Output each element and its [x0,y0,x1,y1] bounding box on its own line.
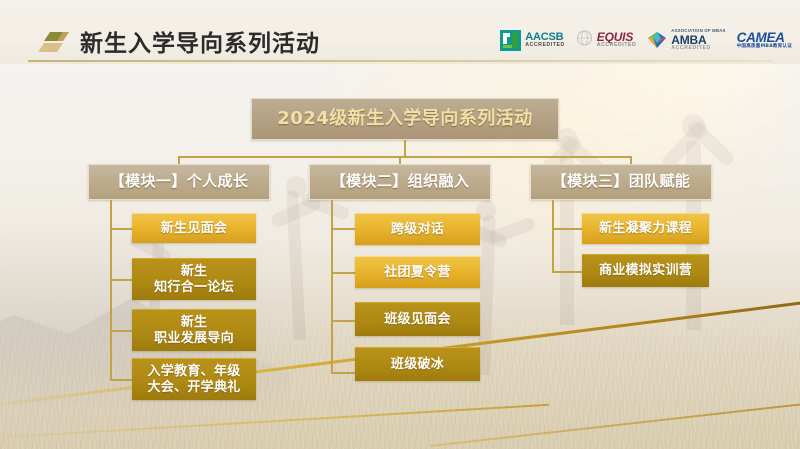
slide-canvas: 新生入学导向系列活动 AACSB ACCREDITED [0,0,800,449]
chart-leaf-label: 社团夏令营 [384,265,451,280]
chart-leaf-label-line1: 新生 [181,264,208,279]
camea-label: CAMEA [737,31,792,45]
amba-accreditation-logo: ASSOCIATION OF MBAS AMBA ACCREDITED [647,29,725,51]
camea-accreditation-logo: CAMEA 中国高质量MBA教育认证 [737,31,792,50]
connector-leaf-3-2 [552,271,582,273]
chart-leaf-node: 新生见面会 [132,213,256,243]
amba-icon [647,31,667,49]
chart-leaf-label: 新生凝聚力课程 [599,221,692,236]
amba-label: AMBA [671,34,725,46]
aacsb-icon [500,30,521,51]
equis-icon [576,30,593,50]
connector-spine-1 [110,200,112,380]
chart-leaf-node: 跨级对话 [355,213,480,245]
chart-branch-header-3: 【模块三】团队赋能 [530,164,712,200]
connector-spine-2 [331,200,333,373]
connector-leaf-1-2 [110,279,132,281]
chart-branch-header-1: 【模块一】个人成长 [88,164,270,200]
chart-root-node: 2024级新生入学导向系列活动 [251,98,559,140]
chart-leaf-label: 班级破冰 [391,357,444,372]
brand-logo-icon [38,30,74,54]
chart-branch-header-2: 【模块二】组织融入 [309,164,491,200]
connector-leaf-3-1 [552,228,582,230]
chart-leaf-node: 入学教育、年级 大会、开学典礼 [132,358,256,400]
chart-leaf-node: 班级见面会 [355,302,480,336]
connector-leaf-2-2 [331,272,355,274]
page-title: 新生入学导向系列活动 [80,24,320,58]
connector-leaf-1-4 [110,379,132,381]
connector-root-stem [404,140,406,157]
chart-leaf-label-line2: 大会、开学典礼 [147,380,240,395]
chart-leaf-label: 跨级对话 [391,222,444,237]
connector-leaf-1-3 [110,330,132,332]
chart-leaf-label: 新生见面会 [161,221,228,236]
chart-leaf-node: 社团夏令营 [355,256,480,288]
chart-leaf-node: 班级破冰 [355,347,480,381]
chart-leaf-label-line1: 新生 [181,315,208,330]
amba-sublabel: ACCREDITED [671,46,725,51]
chart-leaf-label: 班级见面会 [384,312,451,327]
equis-accreditation-logo: EQUIS ACCREDITED [576,30,637,50]
chart-leaf-node: 新生凝聚力课程 [582,213,709,244]
chart-leaf-label-line1: 入学教育、年级 [147,364,240,379]
equis-sublabel: ACCREDITED [597,43,637,48]
accreditation-logo-row: AACSB ACCREDITED EQUIS ACCREDITED [500,24,792,56]
chart-leaf-node: 新生 知行合一论坛 [132,258,256,300]
connector-leaf-2-1 [331,228,355,230]
chart-leaf-node: 商业模拟实训营 [582,254,709,287]
connector-spine-3 [552,200,554,272]
chart-leaf-node: 新生 职业发展导向 [132,309,256,351]
connector-leaf-2-3 [331,320,355,322]
chart-leaf-label-line2: 知行合一论坛 [154,280,234,295]
org-chart: 2024级新生入学导向系列活动 【模块一】个人成长 新生见面会 新生 知行合一论… [0,0,800,449]
chart-leaf-label-line2: 职业发展导向 [154,331,234,346]
connector-leaf-1-1 [110,228,132,230]
aacsb-accreditation-logo: AACSB ACCREDITED [500,30,565,51]
header-divider-rule [28,60,772,62]
connector-leaf-2-4 [331,372,355,374]
chart-leaf-label: 商业模拟实训营 [599,263,692,278]
aacsb-sublabel: ACCREDITED [525,43,565,48]
camea-sublabel: 中国高质量MBA教育认证 [737,45,792,50]
connector-root-bus [178,156,631,158]
